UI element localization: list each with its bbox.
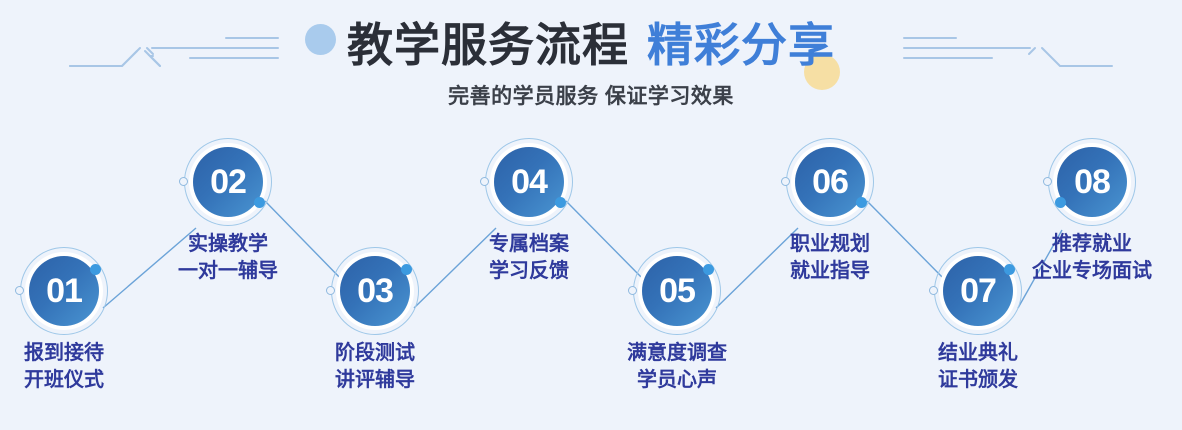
step-node-05[interactable]: 05 xyxy=(633,247,721,335)
ring-tick-icon xyxy=(480,177,489,186)
title-accent-text: 精彩分享 xyxy=(647,19,835,71)
step-number-01: 01 xyxy=(29,256,99,326)
step-label-06: 职业规划 就业指导 xyxy=(766,231,894,285)
step-label-01: 报到接待 开班仪式 xyxy=(0,340,128,394)
infographic-canvas: 教学服务流程精彩分享 完善的学员服务 保证学习效果 xyxy=(0,0,1182,430)
page-title: 教学服务流程精彩分享 xyxy=(0,18,1182,72)
connector-dot xyxy=(856,197,867,208)
step-label-08-line1: 推荐就业 xyxy=(1052,233,1132,255)
step-number-06: 06 xyxy=(795,147,865,217)
connector-dot xyxy=(1055,197,1066,208)
step-label-08: 推荐就业 企业专场面试 xyxy=(1002,231,1182,285)
step-number-03: 03 xyxy=(340,256,410,326)
step-label-07: 结业典礼 证书颁发 xyxy=(914,340,1042,394)
step-node-08[interactable]: 08 xyxy=(1048,138,1136,226)
step-node-03[interactable]: 03 xyxy=(331,247,419,335)
step-label-05: 满意度调查 学员心声 xyxy=(601,340,753,394)
step-number-05: 05 xyxy=(642,256,712,326)
ring-tick-icon xyxy=(781,177,790,186)
step-number-02: 02 xyxy=(193,147,263,217)
step-label-04: 专属档案 学习反馈 xyxy=(465,231,593,285)
step-node-01[interactable]: 01 xyxy=(20,247,108,335)
connector-dot xyxy=(401,264,412,275)
step-number-08: 08 xyxy=(1057,147,1127,217)
process-flow: 01 报到接待 开班仪式 02 实操教学 一对一辅导 03 xyxy=(0,118,1182,430)
title-accent-dot-blue xyxy=(305,24,336,55)
step-label-01-line1: 报到接待 xyxy=(24,342,104,364)
title-main-text: 教学服务流程 xyxy=(347,19,629,71)
step-label-05-line2: 学员心声 xyxy=(601,367,753,394)
header: 教学服务流程精彩分享 完善的学员服务 保证学习效果 xyxy=(0,0,1182,120)
connector-dot xyxy=(90,264,101,275)
step-label-07-line2: 证书颁发 xyxy=(914,367,1042,394)
step-label-06-line2: 就业指导 xyxy=(766,258,894,285)
connector-dot xyxy=(703,264,714,275)
step-label-02-line1: 实操教学 xyxy=(188,233,268,255)
step-label-08-line2: 企业专场面试 xyxy=(1002,258,1182,285)
step-label-07-line1: 结业典礼 xyxy=(938,342,1018,364)
step-node-02[interactable]: 02 xyxy=(184,138,272,226)
step-label-05-line1: 满意度调查 xyxy=(627,342,727,364)
connector-dot xyxy=(254,197,265,208)
step-node-04[interactable]: 04 xyxy=(485,138,573,226)
step-label-03-line1: 阶段测试 xyxy=(335,342,415,364)
ring-tick-icon xyxy=(179,177,188,186)
step-node-06[interactable]: 06 xyxy=(786,138,874,226)
step-label-01-line2: 开班仪式 xyxy=(0,367,128,394)
step-label-04-line2: 学习反馈 xyxy=(465,258,593,285)
step-label-04-line1: 专属档案 xyxy=(489,233,569,255)
ring-tick-icon xyxy=(929,286,938,295)
step-label-03-line2: 讲评辅导 xyxy=(311,367,439,394)
step-label-02-line2: 一对一辅导 xyxy=(156,258,300,285)
ring-tick-icon xyxy=(628,286,637,295)
page-subtitle: 完善的学员服务 保证学习效果 xyxy=(0,80,1182,110)
connector-dot xyxy=(555,197,566,208)
step-label-06-line1: 职业规划 xyxy=(790,233,870,255)
ring-tick-icon xyxy=(1043,177,1052,186)
step-label-02: 实操教学 一对一辅导 xyxy=(156,231,300,285)
ring-tick-icon xyxy=(15,286,24,295)
ring-tick-icon xyxy=(326,286,335,295)
step-number-04: 04 xyxy=(494,147,564,217)
step-label-03: 阶段测试 讲评辅导 xyxy=(311,340,439,394)
